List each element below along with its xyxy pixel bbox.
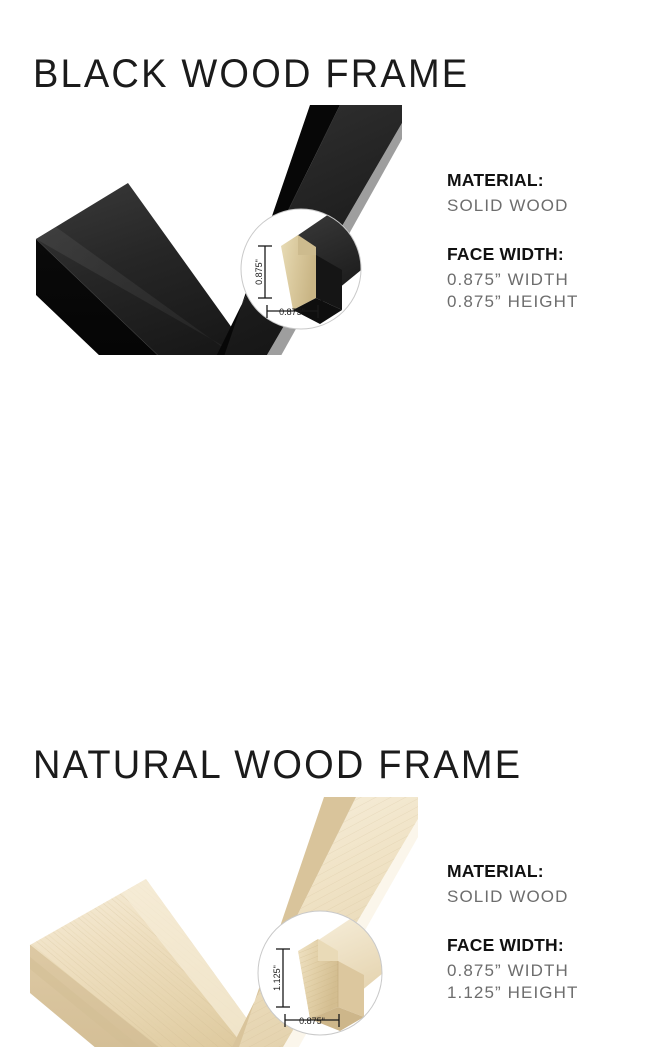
spec-label-face-width: FACE WIDTH: (447, 935, 578, 956)
spec-label-material: MATERIAL: (447, 170, 578, 191)
spec-value-face-height: 0.875” HEIGHT (447, 292, 578, 312)
product-section-natural-wood-frame: NATURAL WOOD FRAME (0, 345, 650, 745)
spec-list-natural-wood-frame: MATERIAL: SOLID WOOD FACE WIDTH: 0.875” … (447, 861, 578, 1005)
spec-gap (447, 909, 578, 935)
spec-value-material: SOLID WOOD (447, 196, 578, 216)
page-title-black-wood-frame: BLACK WOOD FRAME (33, 52, 469, 98)
width-dimension-label-natural: 0.875" (299, 1016, 325, 1026)
spec-value-face-width: 0.875” WIDTH (447, 270, 578, 290)
spec-value-face-height: 1.125” HEIGHT (447, 983, 578, 1003)
height-dimension-label-black: 0.875" (254, 259, 264, 285)
spec-value-face-width: 0.875” WIDTH (447, 961, 578, 981)
page-title-natural-wood-frame: NATURAL WOOD FRAME (33, 743, 522, 789)
spec-label-material: MATERIAL: (447, 861, 578, 882)
spec-label-face-width: FACE WIDTH: (447, 244, 578, 265)
width-dimension-label-black: 0.875" (279, 307, 305, 317)
cross-section-detail-black: 0.875" 0.875" (236, 206, 366, 336)
spec-value-material: SOLID WOOD (447, 887, 578, 907)
product-section-black-wood-frame: BLACK WOOD FRAME (0, 0, 650, 390)
height-dimension-label-natural: 1.125" (272, 965, 282, 991)
spec-list-black-wood-frame: MATERIAL: SOLID WOOD FACE WIDTH: 0.875” … (447, 170, 578, 314)
spec-gap (447, 218, 578, 244)
cross-section-detail-natural: 1.125" 0.875" (252, 907, 388, 1043)
